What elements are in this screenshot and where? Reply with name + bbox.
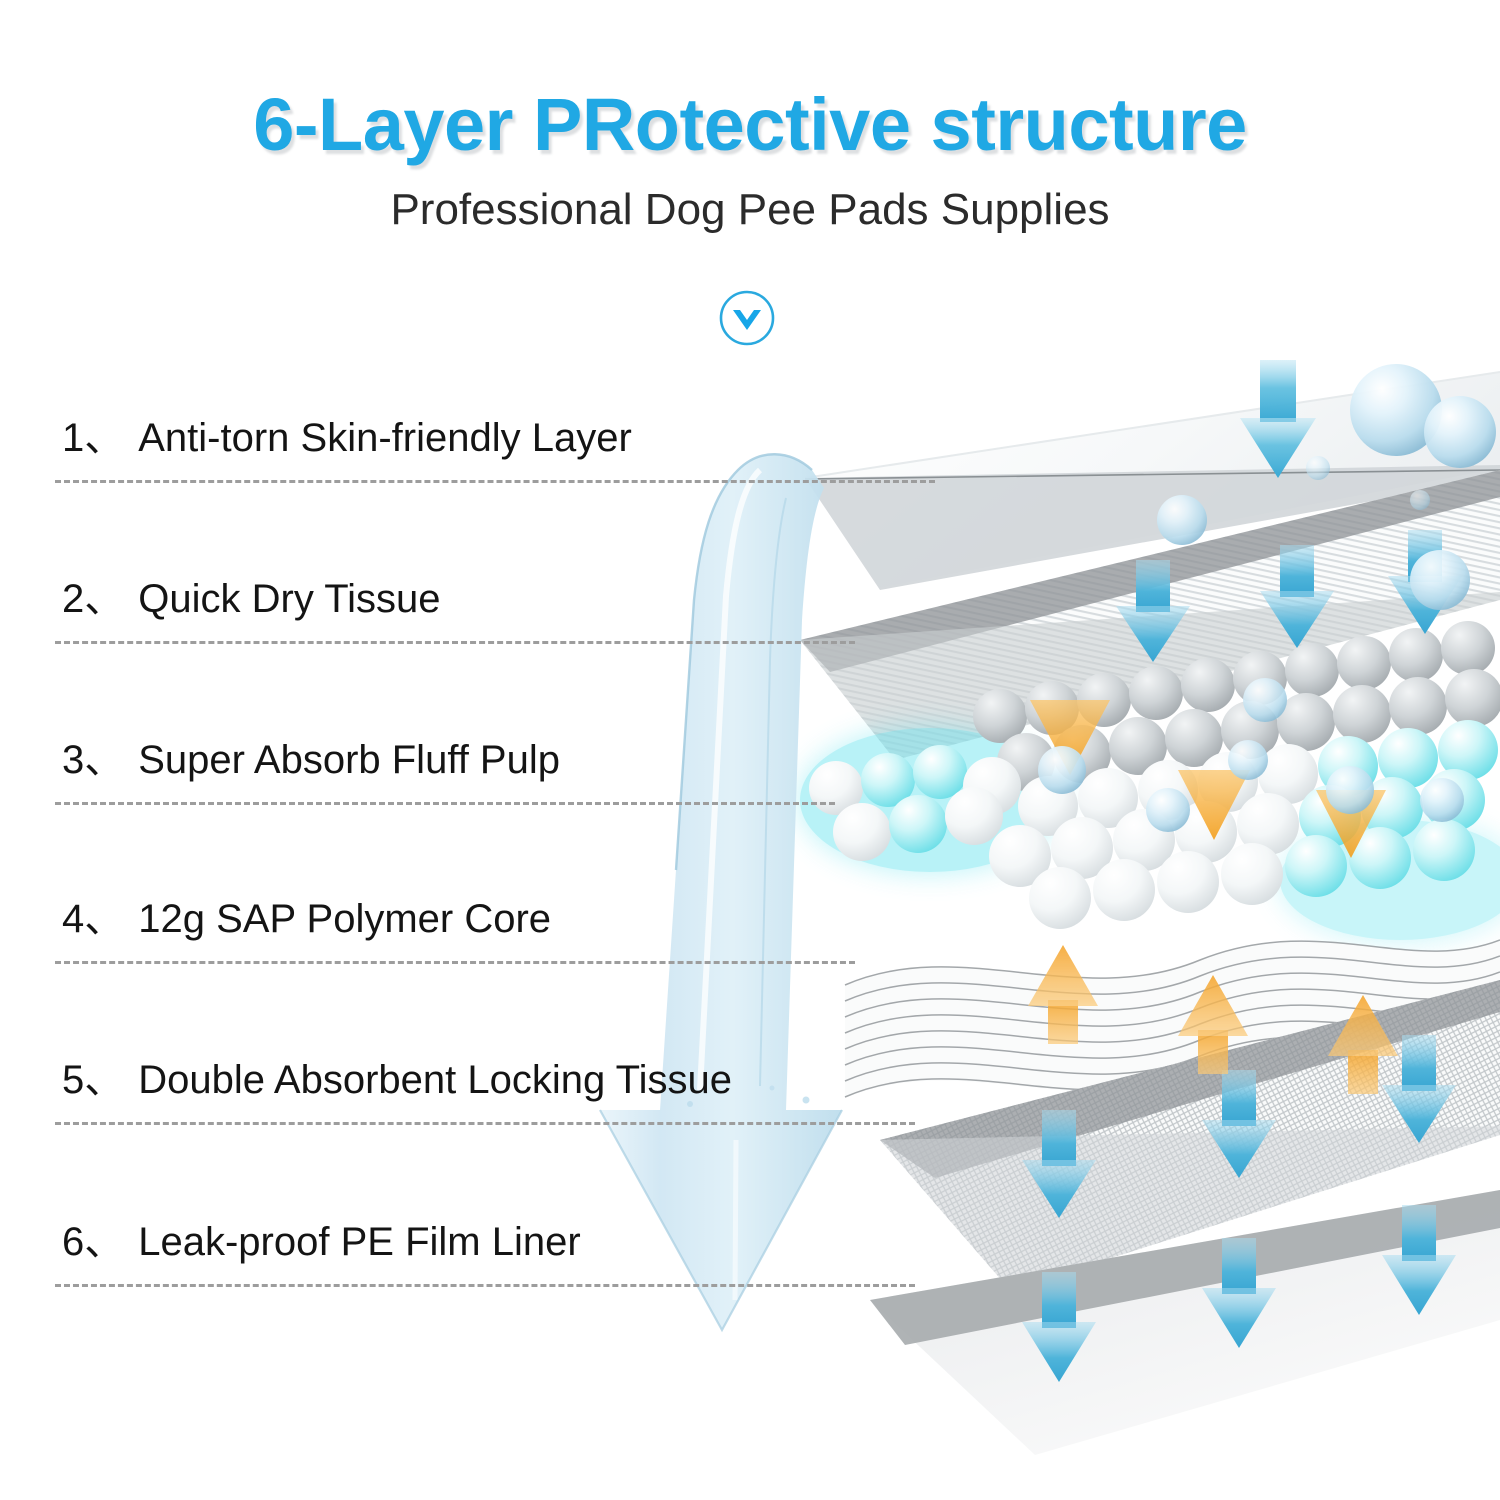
layer-divider-5 (55, 1122, 915, 1125)
layer-index-6: 6、 (62, 1220, 124, 1264)
layer-label-4: 4、12g SAP Polymer Core (62, 899, 551, 939)
layer-text-4: 12g SAP Polymer Core (138, 897, 551, 941)
infographic-page: 6-Layer PRotective structure Professiona… (0, 0, 1500, 1500)
layer-label-column: 1、Anti-torn Skin-friendly Layer 2、Quick … (0, 0, 1500, 1500)
layer-index-5: 5、 (62, 1058, 124, 1102)
layer-text-1: Anti-torn Skin-friendly Layer (138, 416, 632, 460)
layer-text-2: Quick Dry Tissue (138, 577, 440, 621)
layer-text-5: Double Absorbent Locking Tissue (138, 1058, 732, 1102)
layer-divider-1 (55, 480, 935, 483)
layer-text-3: Super Absorb Fluff Pulp (138, 738, 560, 782)
layer-divider-3 (55, 802, 835, 805)
layer-label-2: 2、Quick Dry Tissue (62, 579, 441, 619)
layer-label-5: 5、Double Absorbent Locking Tissue (62, 1060, 732, 1100)
layer-label-3: 3、Super Absorb Fluff Pulp (62, 740, 560, 780)
layer-text-6: Leak-proof PE Film Liner (138, 1220, 580, 1264)
layer-label-1: 1、Anti-torn Skin-friendly Layer (62, 418, 632, 458)
layer-index-4: 4、 (62, 897, 124, 941)
layer-index-3: 3、 (62, 738, 124, 782)
layer-divider-4 (55, 961, 855, 964)
layer-index-1: 1、 (62, 416, 124, 460)
layer-label-6: 6、Leak-proof PE Film Liner (62, 1222, 581, 1262)
layer-divider-2 (55, 641, 855, 644)
layer-divider-6 (55, 1284, 915, 1287)
layer-index-2: 2、 (62, 577, 124, 621)
